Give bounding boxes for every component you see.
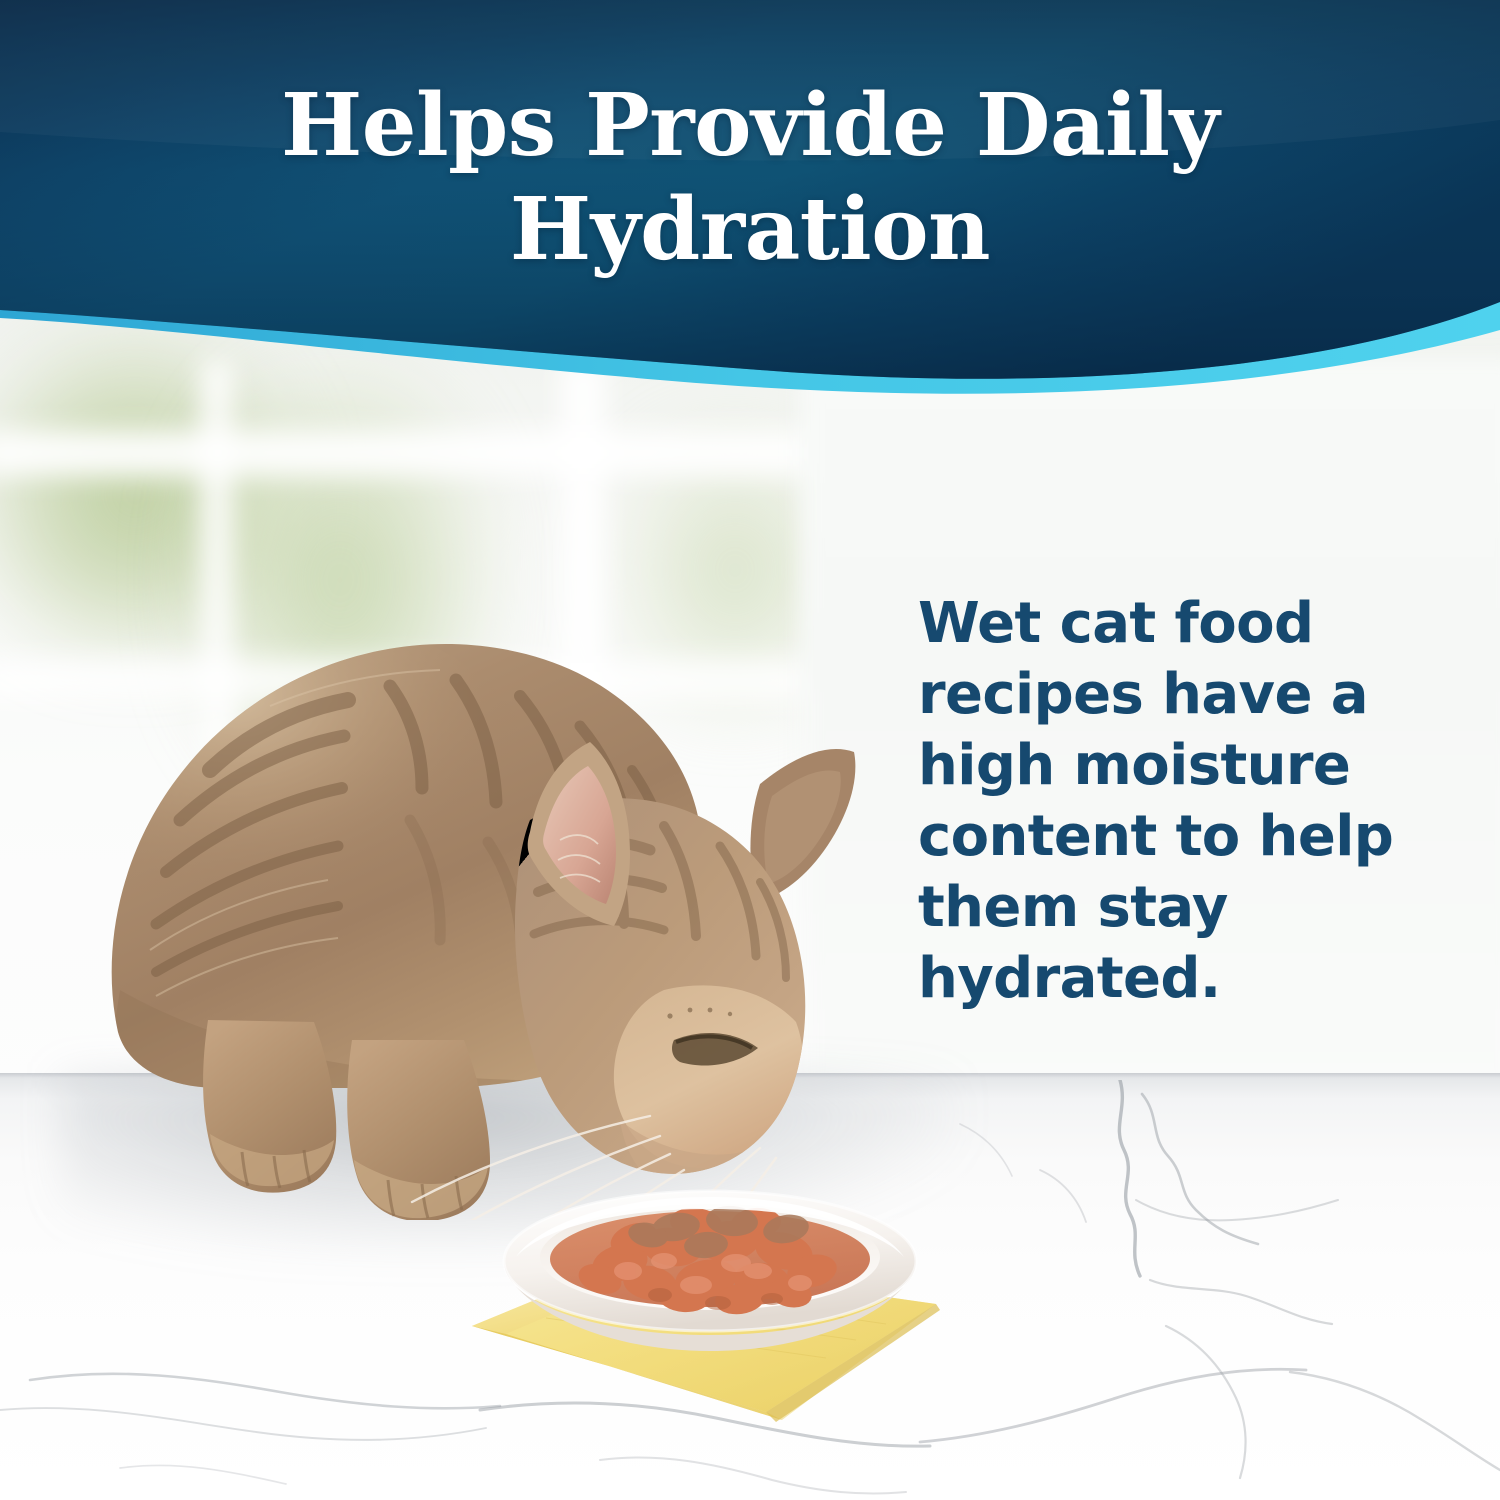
cat-illustration (60, 520, 900, 1220)
headline-line-2: Hydration (510, 179, 990, 280)
marketing-image: Helps Provide DailyHydration Wet cat foo… (0, 0, 1500, 1500)
food-bowl (500, 1175, 920, 1375)
body-copy: Wet cat food recipes have a high moistur… (918, 588, 1448, 1014)
window-mullion (0, 430, 880, 476)
headline-line-1: Helps Provide Daily (281, 75, 1219, 176)
page-headline: Helps Provide DailyHydration (0, 74, 1500, 282)
